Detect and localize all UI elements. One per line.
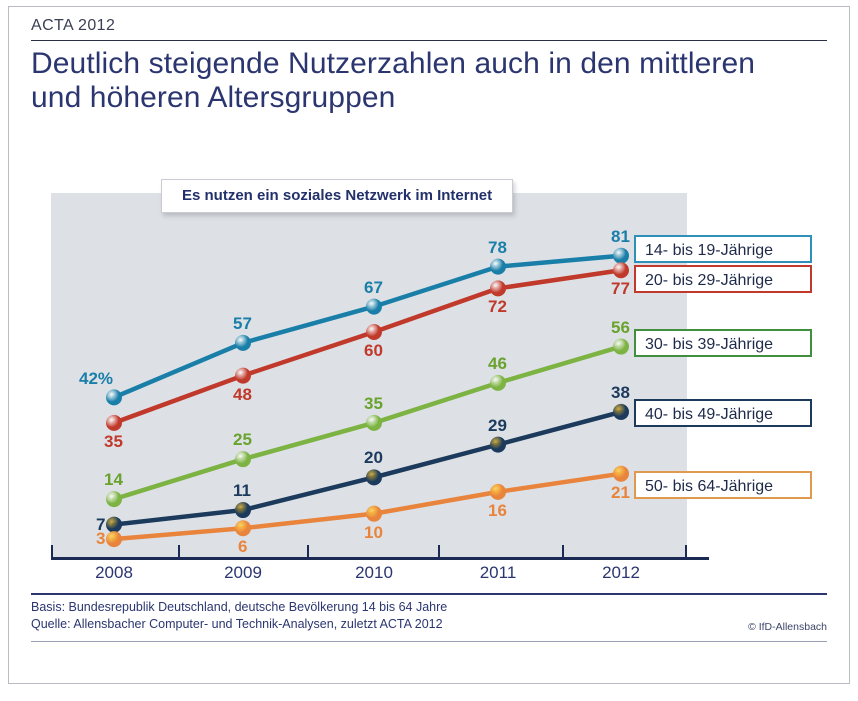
kicker-label: ACTA 2012	[31, 17, 115, 35]
value-label: 72	[488, 297, 507, 317]
x-axis-start-tick	[51, 545, 53, 557]
value-label: 77	[611, 279, 630, 299]
x-axis-tick	[178, 545, 180, 557]
footer-basis-line: Basis: Bundesrepublik Deutschland, deuts…	[31, 599, 447, 616]
chart-plot-area	[51, 193, 687, 557]
x-axis-label-2012: 2012	[581, 563, 661, 583]
value-label: 14	[104, 470, 123, 490]
value-label: 38	[611, 383, 630, 403]
value-label: 10	[364, 523, 383, 543]
value-label: 48	[233, 385, 252, 405]
copyright-label: © IfD-Allensbach	[748, 621, 827, 633]
x-axis-label-2008: 2008	[74, 563, 154, 583]
footer-source: Basis: Bundesrepublik Deutschland, deuts…	[31, 599, 447, 633]
value-label: 78	[488, 238, 507, 258]
chart-title: Es nutzen ein soziales Netzwerk im Inter…	[161, 179, 513, 213]
value-label: 35	[364, 394, 383, 414]
x-axis-tick	[562, 545, 564, 557]
x-axis-tick	[438, 545, 440, 557]
value-label: 42%	[79, 369, 113, 389]
x-axis-label-2011: 2011	[458, 563, 538, 583]
kicker-divider	[31, 40, 827, 41]
value-label: 3	[96, 529, 105, 549]
value-label: 35	[104, 432, 123, 452]
x-axis-tick	[307, 545, 309, 557]
page-title: Deutlich steigende Nutzerzahlen auch in …	[31, 47, 801, 115]
x-axis-label-2010: 2010	[334, 563, 414, 583]
legend-item-4[interactable]: 40- bis 49-Jährige	[634, 399, 812, 427]
footer-divider-top	[31, 593, 827, 595]
value-label: 25	[233, 430, 252, 450]
footer-divider-bottom	[31, 641, 827, 642]
value-label: 81	[611, 227, 630, 247]
value-label: 6	[238, 537, 247, 557]
value-label: 56	[611, 318, 630, 338]
legend-item-1[interactable]: 14- bis 19-Jährige	[634, 235, 812, 263]
value-label: 21	[611, 483, 630, 503]
value-label: 67	[364, 278, 383, 298]
x-axis-tick	[685, 545, 687, 557]
x-axis-label-2009: 2009	[203, 563, 283, 583]
value-label: 11	[233, 481, 251, 501]
value-label: 60	[364, 341, 383, 361]
slide-frame: ACTA 2012 Deutlich steigende Nutzerzahle…	[8, 6, 850, 684]
value-label: 46	[488, 354, 507, 374]
legend-item-2[interactable]: 20- bis 29-Jährige	[634, 265, 812, 293]
value-label: 29	[488, 416, 507, 436]
legend-item-5[interactable]: 50- bis 64-Jährige	[634, 471, 812, 499]
value-label: 16	[488, 501, 507, 521]
x-axis-line	[51, 557, 709, 560]
footer-quelle-line: Quelle: Allensbacher Computer- und Techn…	[31, 616, 447, 633]
value-label: 20	[364, 448, 383, 468]
legend-item-3[interactable]: 30- bis 39-Jährige	[634, 329, 812, 357]
value-label: 57	[233, 314, 252, 334]
